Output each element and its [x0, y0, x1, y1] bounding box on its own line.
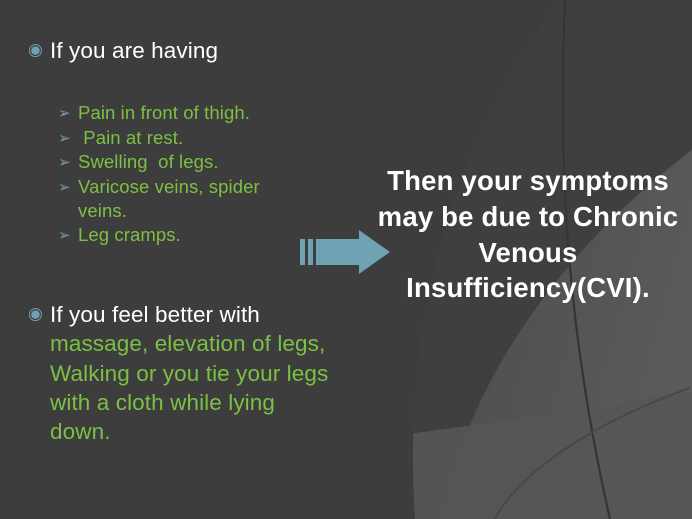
list-item-label: Pain in front of thigh.: [78, 101, 250, 125]
list-item-label: Leg cramps.: [78, 223, 181, 247]
bullet-text-if-you-feel-better: If you feel better with massage, elevati…: [50, 300, 340, 446]
list-item: ➢ Varicose veins, spider veins.: [58, 175, 328, 222]
list-item: ➢ Swelling of legs.: [58, 150, 328, 174]
bullet-text-green-part: massage, elevation of legs, Walking or y…: [50, 331, 328, 444]
symptom-sub-list: ➢ Pain in front of thigh. ➢ Pain at rest…: [58, 101, 328, 248]
bullet-item-if-you-are-having: ◉ If you are having: [28, 36, 328, 65]
list-item: ➢ Pain in front of thigh.: [58, 101, 328, 125]
list-item-label: Swelling of legs.: [78, 150, 219, 174]
arrow-bullet-icon: ➢: [58, 175, 78, 195]
arrow-bullet-icon: ➢: [58, 223, 78, 243]
bullet-text-if-you-are-having: If you are having: [50, 36, 218, 65]
slide-canvas: ◉ If you are having ➢ Pain in front of t…: [0, 0, 692, 519]
bullet-item-if-you-feel-better: ◉ If you feel better with massage, eleva…: [28, 300, 340, 446]
list-item: ➢ Pain at rest.: [58, 126, 328, 150]
arrow-tail-bar-2: [308, 239, 313, 265]
list-item-label: Varicose veins, spider veins.: [78, 175, 306, 222]
arrow-bullet-icon: ➢: [58, 150, 78, 170]
left-content-column: ◉ If you are having ➢ Pain in front of t…: [0, 0, 340, 519]
list-item-label: Pain at rest.: [78, 126, 183, 150]
conclusion-heading: Then your symptoms may be due to Chronic…: [368, 163, 688, 306]
bullet-text-white-part: If you feel better with: [50, 302, 260, 327]
list-item: ➢ Leg cramps.: [58, 223, 328, 247]
arrow-bullet-icon: ➢: [58, 126, 78, 146]
arrow-tail-bar-1: [300, 239, 305, 265]
bullet-marker-icon: ◉: [28, 36, 50, 58]
bullet-marker-icon: ◉: [28, 300, 50, 322]
arrow-bullet-icon: ➢: [58, 101, 78, 121]
background-arc-line-secondary: [495, 388, 690, 519]
